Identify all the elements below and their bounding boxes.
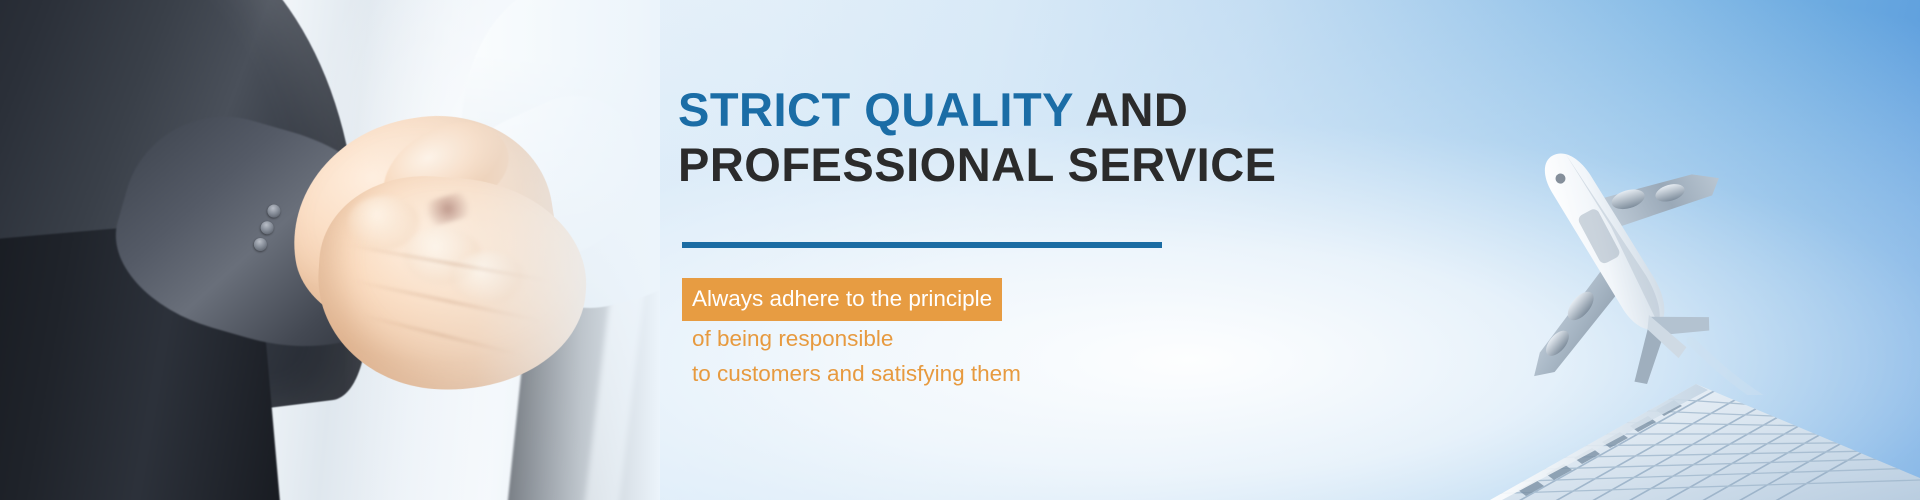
handshake-photo	[0, 0, 660, 500]
banner-content: STRICT QUALITY AND PROFESSIONAL SERVICE …	[678, 0, 1498, 500]
subtitle-block: Always adhere to the principle of being …	[682, 278, 1021, 392]
headline: STRICT QUALITY AND PROFESSIONAL SERVICE	[678, 82, 1277, 193]
subtitle-line-3: to customers and satisfying them	[682, 356, 1021, 392]
hero-banner: STRICT QUALITY AND PROFESSIONAL SERVICE …	[0, 0, 1920, 500]
subtitle-line-2: of being responsible	[682, 321, 1021, 357]
headline-and-text: AND	[1073, 83, 1188, 136]
glass-office-building-icon	[1450, 310, 1920, 500]
headline-divider	[682, 242, 1162, 248]
cargo-airplane-icon	[1455, 105, 1785, 395]
subtitle-line-1: Always adhere to the principle	[682, 278, 1002, 321]
photo-gradient-fade	[0, 0, 660, 500]
headline-accent-text: STRICT QUALITY	[678, 83, 1073, 136]
headline-line-2: PROFESSIONAL SERVICE	[678, 137, 1277, 192]
